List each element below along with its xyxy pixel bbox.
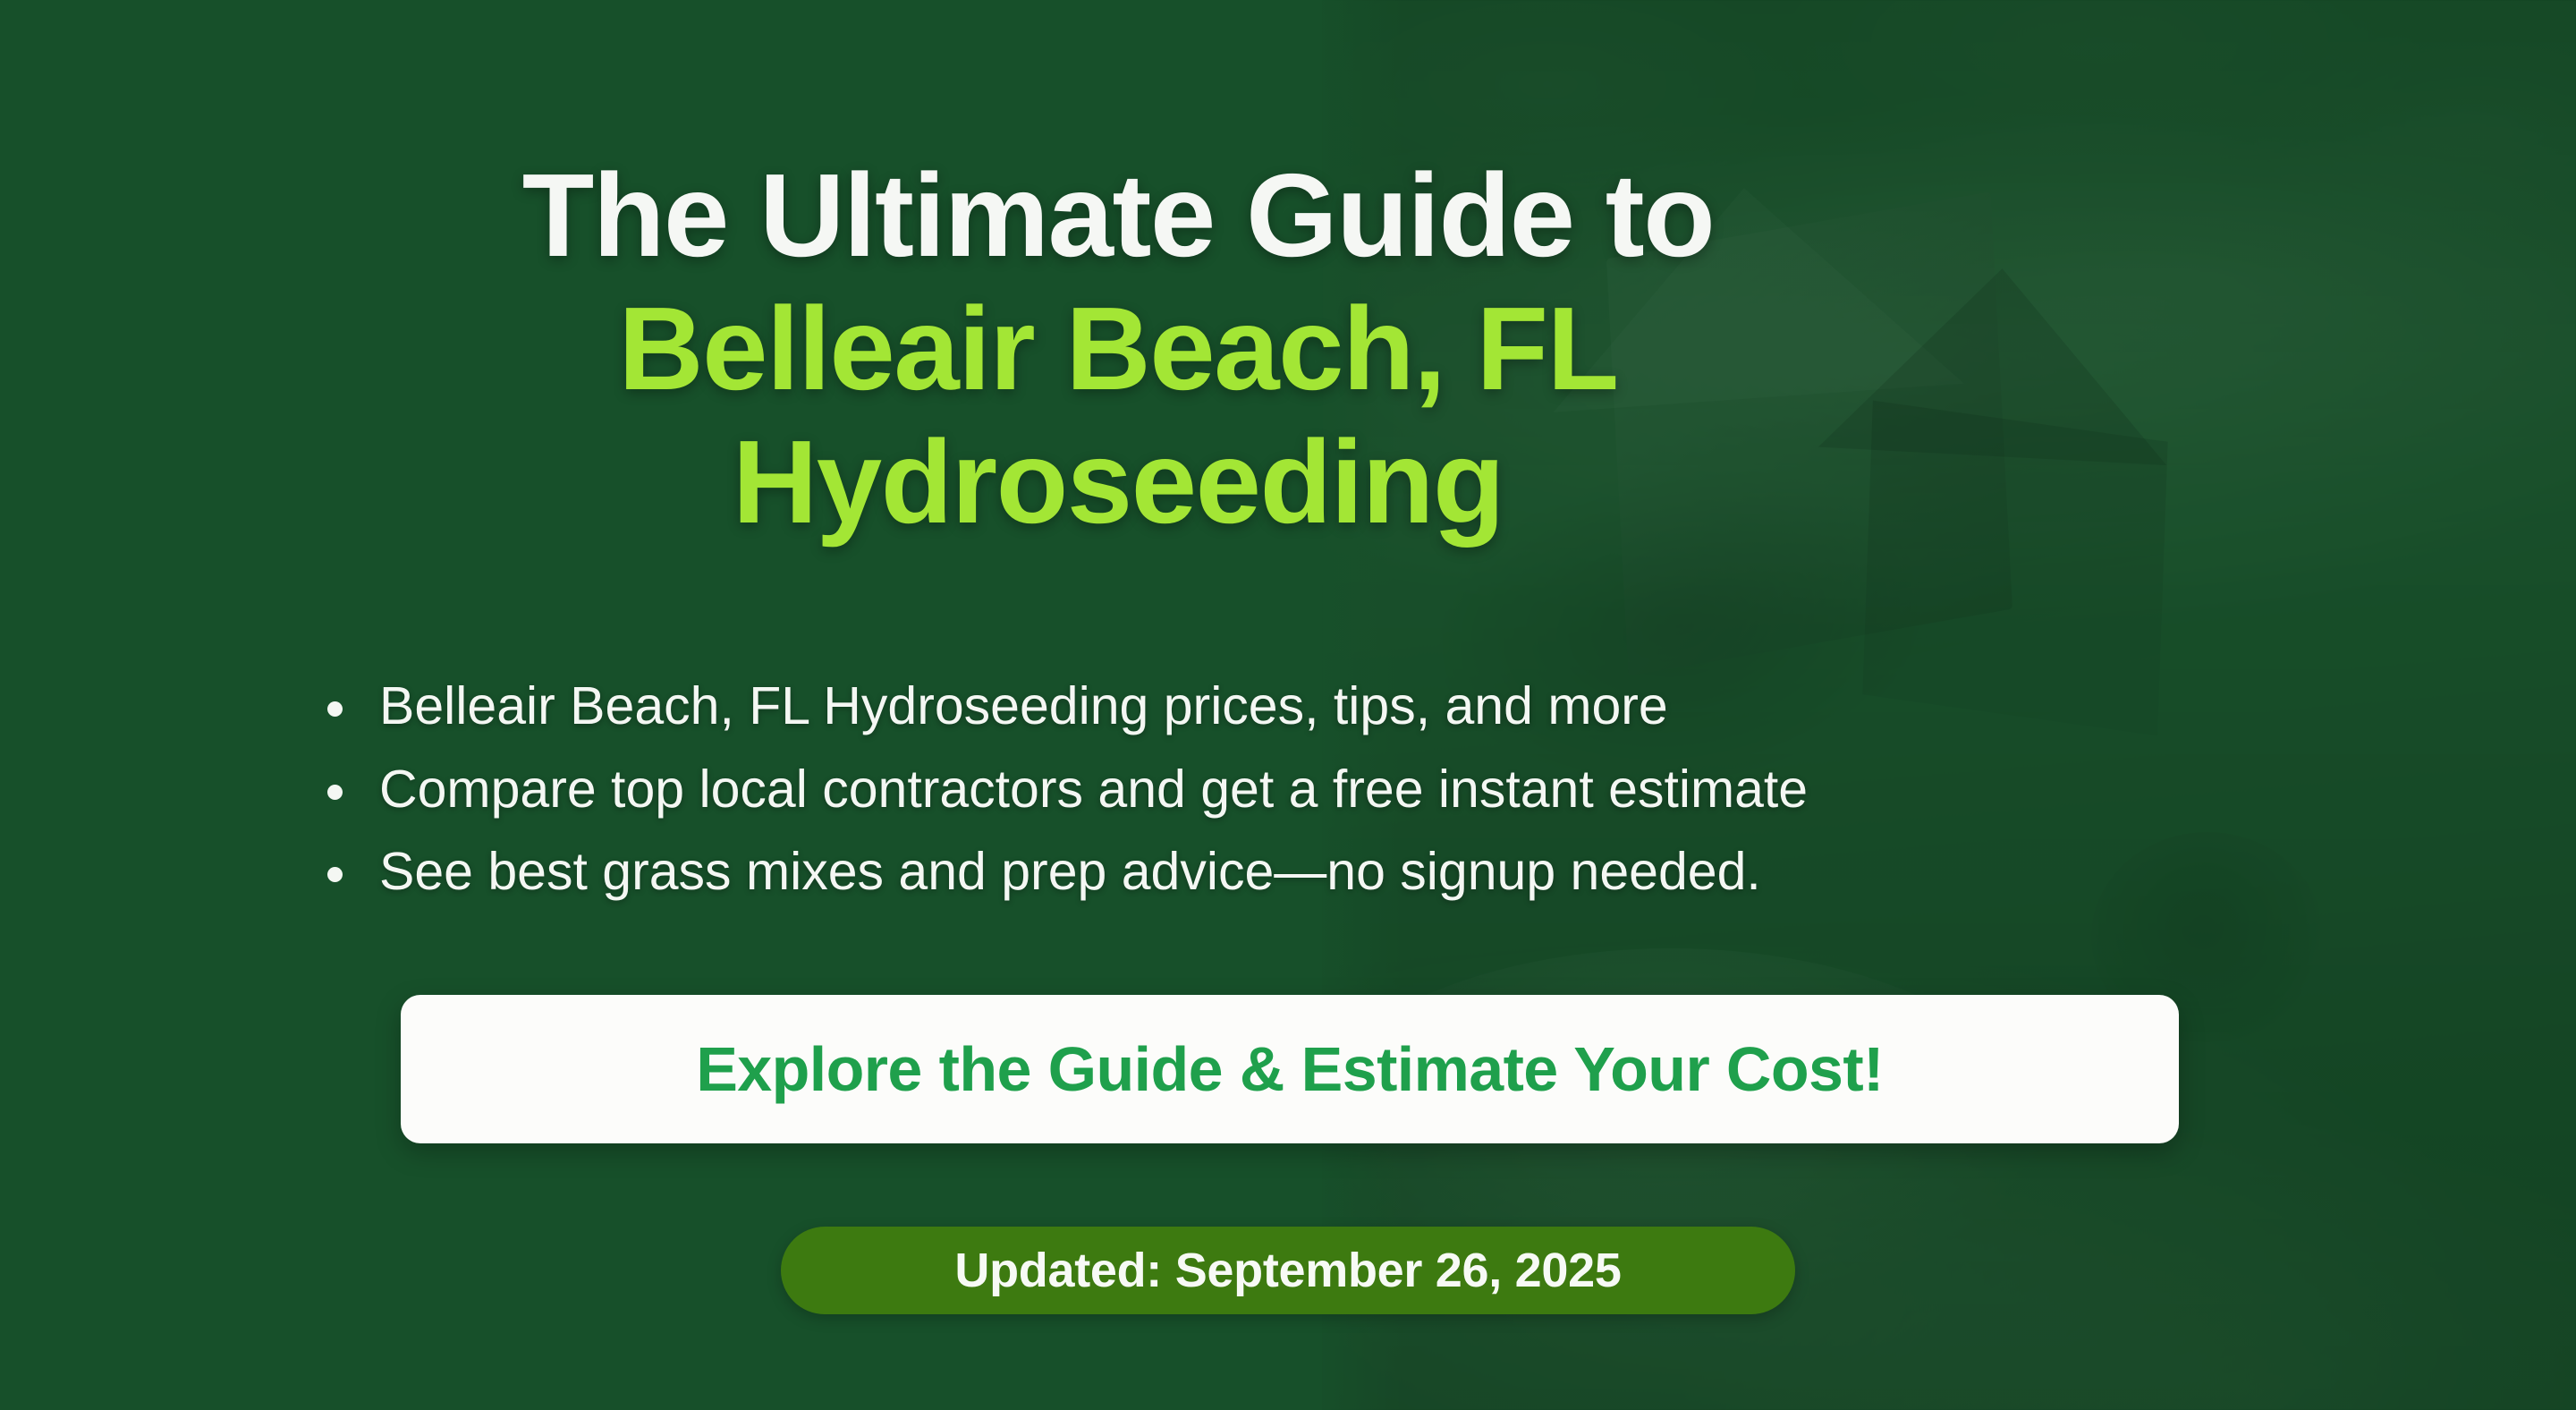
list-item: Belleair Beach, FL Hydroseeding prices, … bbox=[315, 678, 2193, 735]
headline-line-1: The Ultimate Guide to bbox=[522, 149, 1715, 281]
banner-content: The Ultimate Guide to Belleair Beach, FL… bbox=[0, 0, 2576, 1410]
list-item: Compare top local contractors and get a … bbox=[315, 761, 2193, 818]
headline-line-2: Belleair Beach, FL bbox=[0, 289, 2236, 410]
updated-date-badge: Updated: September 26, 2025 bbox=[781, 1227, 1795, 1314]
list-item: See best grass mixes and prep advice—no … bbox=[315, 844, 2193, 900]
explore-guide-cta-button[interactable]: Explore the Guide & Estimate Your Cost! bbox=[401, 995, 2179, 1143]
hero-banner: The Ultimate Guide to Belleair Beach, FL… bbox=[0, 0, 2576, 1410]
page-title: The Ultimate Guide to Belleair Beach, FL… bbox=[0, 156, 2236, 542]
benefits-list: Belleair Beach, FL Hydroseeding prices, … bbox=[315, 678, 2193, 927]
headline-line-3: Hydroseeding bbox=[0, 422, 2236, 543]
